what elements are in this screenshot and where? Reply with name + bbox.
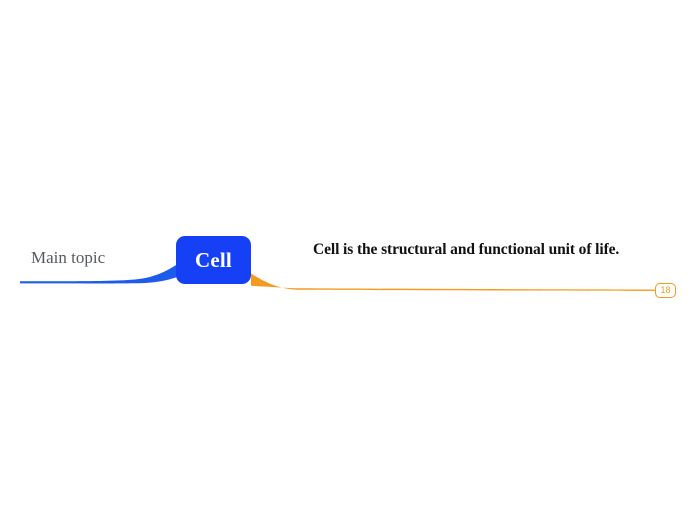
right-branch-text[interactable]: Cell is the structural and functional un…: [313, 239, 643, 261]
right-branch-connector: [251, 274, 656, 291]
left-branch-topic-label[interactable]: Main topic: [31, 248, 105, 268]
central-node-cell[interactable]: Cell: [176, 236, 251, 284]
central-node-label: Cell: [195, 250, 232, 271]
mindmap-canvas[interactable]: Main topic Cell Cell is the structural a…: [0, 0, 696, 520]
right-branch-count-badge[interactable]: 18: [655, 283, 676, 298]
